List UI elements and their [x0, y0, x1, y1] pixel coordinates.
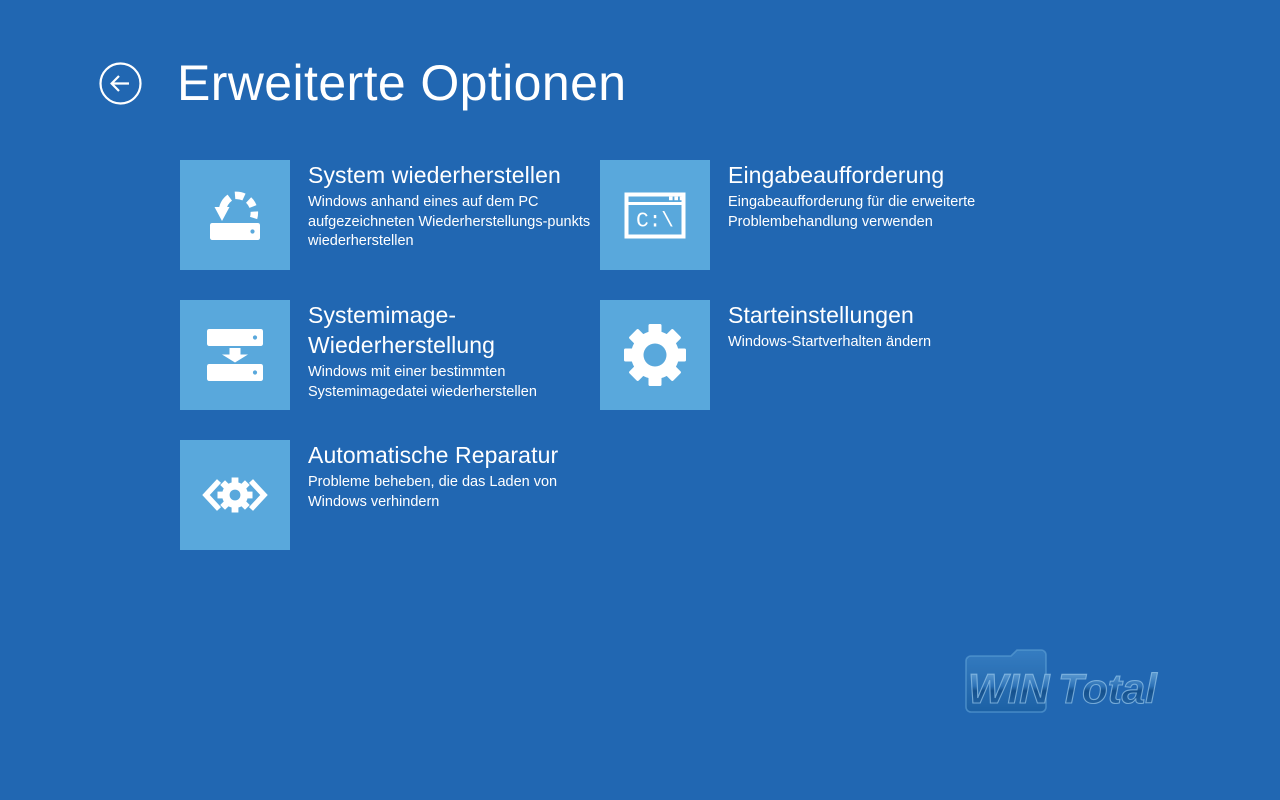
option-text: Eingabeaufforderung Eingabeaufforderung … — [728, 160, 1020, 232]
option-text: Starteinstellungen Windows-Startverhalte… — [728, 300, 1020, 353]
option-startup-settings[interactable]: Starteinstellungen Windows-Startverhalte… — [600, 300, 1020, 410]
option-text: System wiederherstellen Windows anhand e… — [308, 160, 600, 252]
watermark-text-primary: WIN — [968, 665, 1051, 712]
option-tile — [180, 300, 290, 410]
option-title: Eingabeaufforderung — [728, 160, 1020, 190]
system-restore-icon — [196, 176, 274, 254]
option-description: Probleme beheben, die das Laden von Wind… — [308, 473, 600, 512]
back-button[interactable] — [98, 61, 143, 106]
command-prompt-icon: C:\ — [616, 176, 694, 254]
option-description: Windows anhand eines auf dem PC aufgezei… — [308, 193, 600, 252]
option-system-restore[interactable]: System wiederherstellen Windows anhand e… — [180, 160, 600, 270]
option-system-image-recovery[interactable]: Systemimage-Wiederherstellung Windows mi… — [180, 300, 600, 410]
option-tile — [180, 160, 290, 270]
watermark-text-secondary: Total — [1058, 665, 1158, 712]
svg-text:C:\: C:\ — [636, 211, 674, 234]
option-description: Eingabeaufforderung für die erweiterte P… — [728, 193, 1020, 232]
page-title: Erweiterte Optionen — [177, 58, 627, 108]
page-header: Erweiterte Optionen — [98, 50, 627, 116]
option-title: System wiederherstellen — [308, 160, 600, 190]
option-automatic-repair[interactable]: Automatische Reparatur Probleme beheben,… — [180, 440, 600, 550]
option-description: Windows-Startverhalten ändern — [728, 333, 1020, 353]
option-tile: C:\ — [600, 160, 710, 270]
option-tile — [180, 440, 290, 550]
option-description: Windows mit einer bestimmten Systemimage… — [308, 363, 600, 402]
option-tile — [600, 300, 710, 410]
option-text: Automatische Reparatur Probleme beheben,… — [308, 440, 600, 512]
option-title: Starteinstellungen — [728, 300, 1020, 330]
system-image-recovery-icon — [196, 316, 274, 394]
startup-settings-gear-icon — [616, 316, 694, 394]
watermark-logo: WIN Total — [960, 645, 1160, 723]
option-command-prompt[interactable]: C:\ Eingabeaufforderung Eingabeaufforder… — [600, 160, 1020, 270]
circled-left-arrow-icon — [112, 76, 129, 91]
folder-watermark-icon — [966, 650, 1046, 712]
option-text: Systemimage-Wiederherstellung Windows mi… — [308, 300, 600, 402]
option-title: Automatische Reparatur — [308, 440, 600, 470]
option-title: Systemimage-Wiederherstellung — [308, 300, 600, 360]
automatic-repair-icon — [196, 456, 274, 534]
